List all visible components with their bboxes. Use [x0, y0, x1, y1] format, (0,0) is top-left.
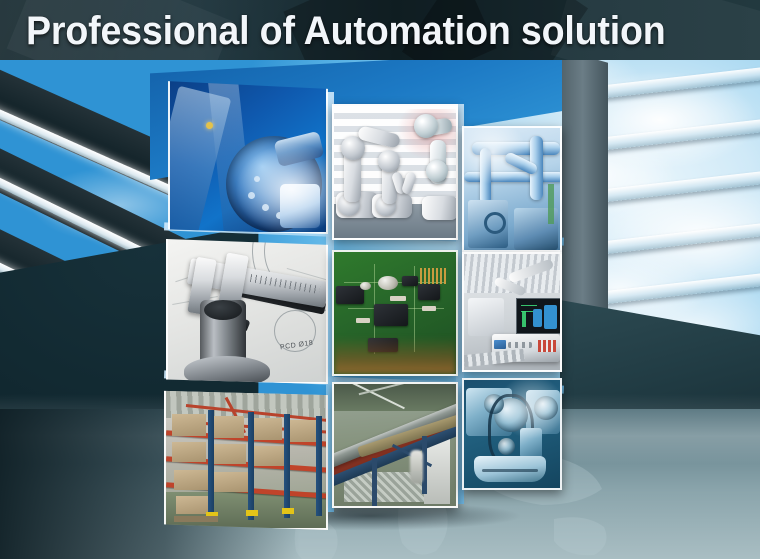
conveyor-hall-roof [334, 384, 456, 411]
pallet-box-1 [172, 414, 206, 436]
warehouse-photo-art [166, 390, 326, 528]
pcb-capacitor-small [360, 282, 371, 290]
engine-sheen [464, 380, 560, 488]
monitor-text-line-1 [521, 311, 533, 312]
poster-canvas: PCD Ø18 [0, 0, 760, 559]
pcb-main-ic [374, 304, 408, 326]
mosaic-tile-warehouse-racking[interactable] [164, 388, 328, 530]
robot-joint-right-elbow [426, 160, 448, 182]
monitor-graph-bar [522, 311, 526, 327]
mosaic-tile-process-piping-plant[interactable] [462, 126, 562, 252]
console-photo-art [464, 254, 560, 370]
conveyor-support-leg-1 [372, 458, 377, 506]
pcb-gold-pins [420, 268, 446, 284]
page-title: Professional of Automation solution [26, 9, 666, 54]
brake-photo-art [170, 80, 326, 232]
pallet-box-4 [286, 420, 318, 442]
pallet-box-9 [214, 472, 248, 492]
pcb-chip-right [418, 284, 440, 300]
robot-photo-art [334, 106, 456, 238]
console-monitor [516, 298, 562, 334]
floor-pallet [174, 516, 218, 522]
rack-upright-4 [316, 416, 322, 516]
console-keypad [538, 340, 556, 352]
robot-joint-right-shoulder [414, 114, 438, 138]
pallet-box-8 [174, 470, 208, 490]
mosaic-tile-robotic-arms[interactable] [332, 104, 458, 240]
mosaic-tile-automotive-brake-assembly[interactable] [168, 78, 328, 234]
photo-mosaic-wall: PCD Ø18 [0, 0, 760, 559]
pallet-box-5 [172, 442, 206, 462]
pallet-box-7 [252, 446, 284, 466]
pcb-capacitor-large [378, 276, 398, 290]
mosaic-tile-engine-timing-belt[interactable] [462, 378, 562, 490]
conveyor-photo-art [334, 384, 456, 506]
pallet-box-2 [210, 416, 244, 438]
mosaic-tile-caliper-on-blueprint[interactable]: PCD Ø18 [166, 236, 328, 384]
robot-joint-centre-elbow [378, 150, 400, 172]
rack-upright-1 [208, 410, 214, 520]
monitor-3d-model [544, 305, 557, 329]
piping-sheen [464, 128, 560, 250]
monitor-graph-line [521, 305, 537, 306]
header-banner: Professional of Automation solution [0, 0, 760, 60]
pcb-smd-2 [422, 306, 436, 311]
rack-guard-2 [246, 510, 258, 516]
machined-part-flange [184, 356, 270, 384]
machined-part-bore [204, 300, 242, 320]
pallet-box-6 [212, 444, 246, 464]
pcb-smd-3 [356, 318, 370, 323]
caliper-photo-art: PCD Ø18 [168, 238, 326, 382]
brake-sheen [170, 80, 326, 232]
mosaic-tile-control-console[interactable] [462, 252, 562, 372]
piping-photo-art [464, 128, 560, 250]
robot-cell-unit [468, 298, 504, 336]
conveyor-rail [464, 349, 525, 367]
mosaic-tile-pcb-circuit-board[interactable] [332, 250, 458, 376]
console-touchpanel [494, 340, 506, 349]
rack-upright-2 [248, 412, 254, 520]
engine-photo-art [464, 380, 560, 488]
pcb-smd-1 [390, 296, 406, 301]
robot-base-right [422, 196, 458, 220]
pallet-box-3 [250, 418, 282, 440]
pcb-foreground-blur [334, 337, 456, 374]
pcb-chip-small [402, 276, 418, 286]
conveyor-operator [410, 450, 423, 484]
pcb-photo-art [334, 252, 456, 374]
mosaic-tile-conveyor-system[interactable] [332, 382, 458, 508]
pcb-connector-left [336, 286, 364, 304]
rack-upright-3 [284, 414, 290, 518]
console-buttons [508, 342, 532, 348]
monitor-3d-model-2 [533, 309, 542, 327]
rack-guard-3 [282, 508, 294, 514]
